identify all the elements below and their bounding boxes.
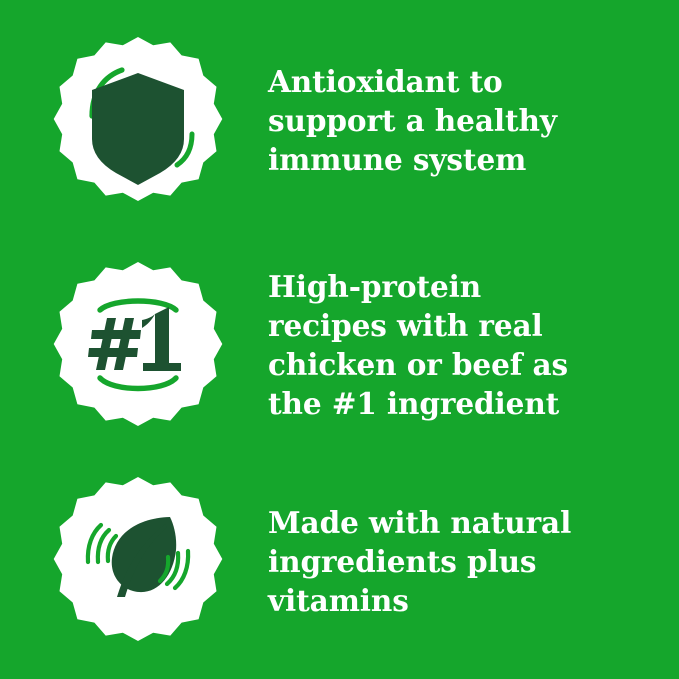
rosette-badge [43,465,233,655]
badge-container [0,462,220,658]
rosette-badge [43,250,233,440]
feature-row: Antioxidant to support a healthy immune … [0,22,679,218]
feature-row: High-protein recipes with real chicken o… [0,247,679,443]
rosette-scallop-shape [54,262,223,426]
rosette-badge [43,25,233,215]
feature-text: Antioxidant to support a healthy immune … [268,62,679,179]
feature-text: High-protein recipes with real chicken o… [268,267,679,423]
feature-text: Made with natural ingredients plus vitam… [268,503,679,620]
feature-highlights-panel: Antioxidant to support a healthy immune … [0,0,679,679]
badge-container [0,247,220,443]
feature-row: Made with natural ingredients plus vitam… [0,462,679,658]
badge-container [0,22,220,218]
